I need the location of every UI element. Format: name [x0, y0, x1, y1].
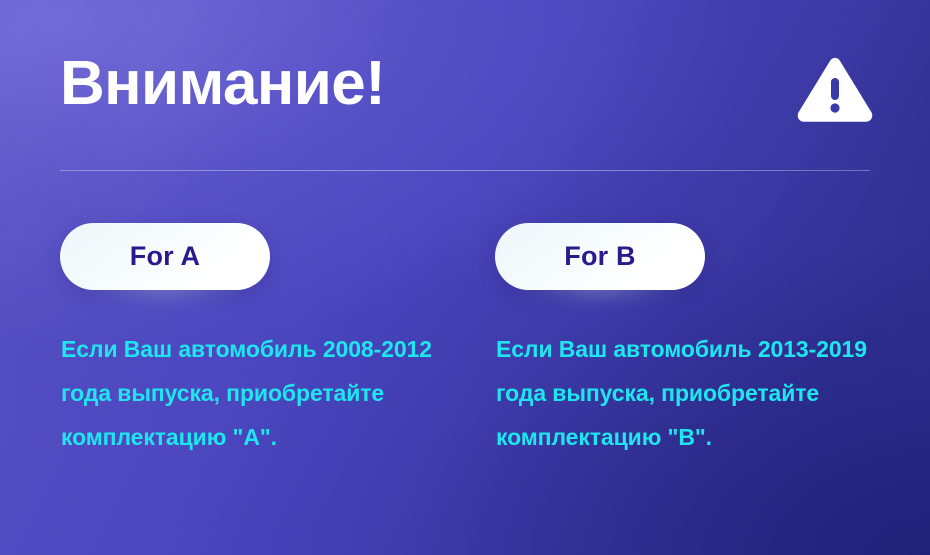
for-a-button-label: For A — [130, 243, 201, 270]
for-b-button-label: For B — [564, 243, 636, 270]
pill-wrap-b: For B — [495, 223, 705, 290]
option-column-b: For B Если Ваш автомобиль 2013-2019 года… — [495, 223, 915, 290]
for-a-button[interactable]: For A — [60, 223, 270, 290]
option-a-text-block: Если Ваш автомобиль 2008-2012 года выпус… — [61, 327, 461, 459]
warning-banner: Внимание! For A Если Ваш автомобиль 2008… — [0, 0, 930, 555]
pill-wrap-a: For A — [60, 223, 270, 290]
option-a-description: Если Ваш автомобиль 2008-2012 года выпус… — [61, 327, 461, 459]
page-title: Внимание! — [60, 48, 385, 120]
warning-triangle-icon — [796, 56, 874, 126]
for-b-button[interactable]: For B — [495, 223, 705, 290]
banner-header: Внимание! — [60, 48, 874, 144]
option-b-description: Если Ваш автомобиль 2013-2019 года выпус… — [496, 327, 896, 459]
option-b-text-block: Если Ваш автомобиль 2013-2019 года выпус… — [496, 327, 896, 459]
option-column-a: For A Если Ваш автомобиль 2008-2012 года… — [60, 223, 480, 290]
header-divider — [60, 170, 870, 171]
